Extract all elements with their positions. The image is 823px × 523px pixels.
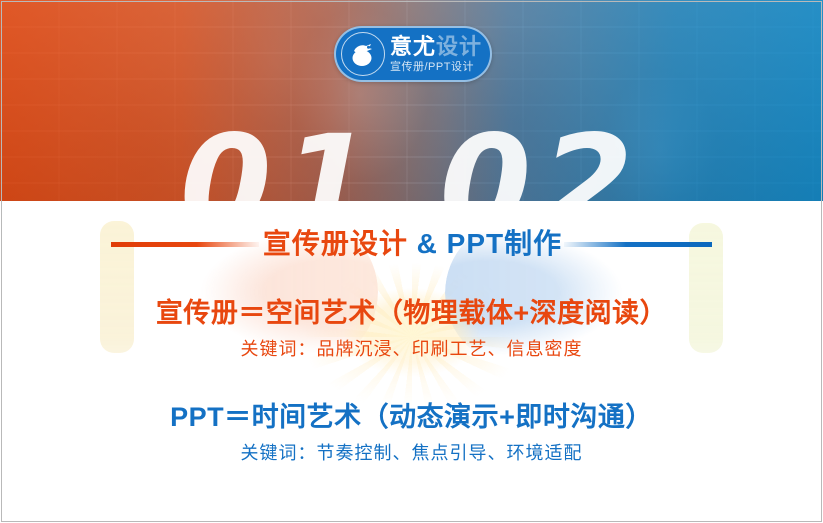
- brand-logo-badge[interactable]: 意尤设计 宣传册/PPT设计: [334, 26, 492, 82]
- brand-subtitle: 宣传册/PPT设计: [390, 62, 482, 73]
- brand-logo-text: 意尤设计 宣传册/PPT设计: [390, 36, 482, 73]
- headline-rule-right: [564, 242, 712, 247]
- brochure-block-title: 宣传册＝空间艺术（物理载体+深度阅读）: [0, 298, 823, 329]
- section-number-watermark: 01 02: [0, 118, 823, 201]
- headline-part-ppt: PPT制作: [447, 228, 562, 259]
- hero-banner: 01 02 意尤设计 宣传册/PPT设计: [0, 0, 823, 201]
- headline-row: 宣传册设计 & PPT制作: [0, 230, 823, 258]
- headline-rule-left: [111, 242, 259, 247]
- brochure-block: 宣传册＝空间艺术（物理载体+深度阅读） 关键词：品牌沉浸、印刷工艺、信息密度: [0, 298, 823, 361]
- headline-ampersand: &: [417, 228, 438, 259]
- brand-name: 意尤设计: [390, 36, 482, 58]
- ppt-block-title: PPT＝时间艺术（动态演示+即时沟通）: [0, 402, 823, 433]
- brochure-block-keywords: 关键词：品牌沉浸、印刷工艺、信息密度: [0, 339, 823, 361]
- ppt-block-keywords: 关键词：节奏控制、焦点引导、环境适配: [0, 443, 823, 465]
- headline-part-brochure: 宣传册设计: [263, 228, 408, 259]
- slide-canvas: 01 02 意尤设计 宣传册/PPT设计: [0, 0, 823, 523]
- brand-name-light: 设计: [436, 34, 482, 59]
- ppt-block: PPT＝时间艺术（动态演示+即时沟通） 关键词：节奏控制、焦点引导、环境适配: [0, 402, 823, 465]
- yiyou-brand-mark-icon: [341, 32, 385, 76]
- brand-name-bold: 意尤: [390, 34, 436, 59]
- headline-title: 宣传册设计 & PPT制作: [263, 230, 562, 258]
